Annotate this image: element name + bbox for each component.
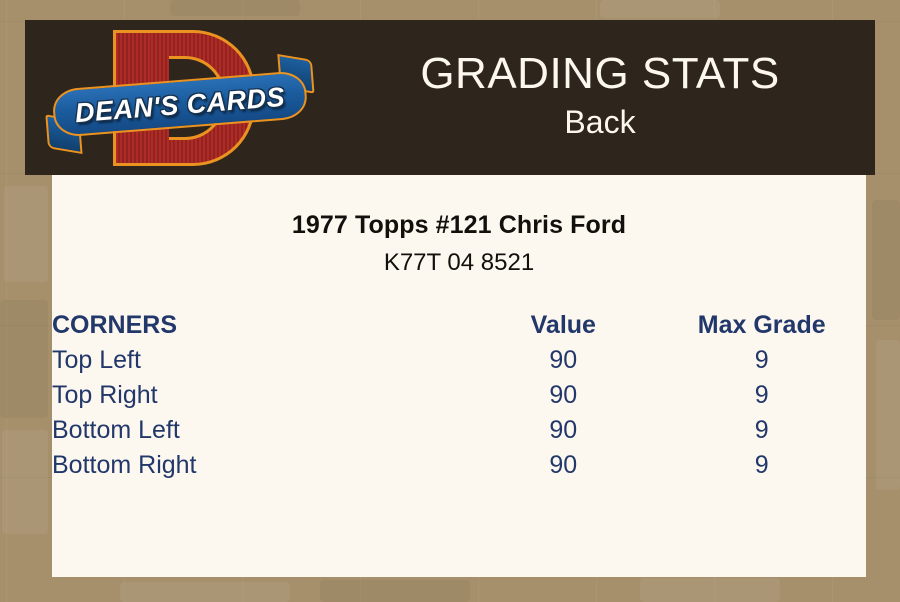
stats-table-body: Top Left 90 9 Top Right 90 9 Bottom Left… (52, 343, 866, 483)
row-value: 90 (469, 378, 657, 413)
column-header-section: CORNERS (52, 308, 469, 343)
row-max-grade: 9 (657, 448, 866, 483)
row-value: 90 (469, 413, 657, 448)
deans-cards-logo[interactable]: DEAN'S CARDS (45, 26, 315, 169)
table-row: Bottom Left 90 9 (52, 413, 866, 448)
background-card-ghost (170, 0, 300, 16)
row-label: Bottom Right (52, 448, 469, 483)
row-max-grade: 9 (657, 378, 866, 413)
background-card-ghost (872, 200, 900, 320)
background-card-ghost (120, 582, 290, 602)
stats-header-row: CORNERS Value Max Grade (52, 308, 866, 343)
row-value: 90 (469, 343, 657, 378)
background-card-ghost (640, 578, 780, 602)
logo-ribbon-banner: DEAN'S CARDS (43, 67, 316, 142)
column-header-value: Value (469, 308, 657, 343)
card-code: K77T 04 8521 (52, 249, 866, 277)
table-row: Top Left 90 9 (52, 343, 866, 378)
content-panel: 1977 Topps #121 Chris Ford K77T 04 8521 … (52, 175, 866, 577)
table-row: Top Right 90 9 (52, 378, 866, 413)
row-label: Top Left (52, 343, 469, 378)
stats-table-head: CORNERS Value Max Grade (52, 308, 866, 343)
row-label: Bottom Left (52, 413, 469, 448)
background-card-ghost (320, 580, 470, 602)
card-title: 1977 Topps #121 Chris Ford (52, 211, 866, 240)
background-card-ghost (0, 300, 48, 418)
row-max-grade: 9 (657, 413, 866, 448)
grading-stats-page: DEAN'S CARDS GRADING STATS Back 1977 Top… (0, 0, 900, 602)
logo-ribbon-text: DEAN'S CARDS (43, 67, 316, 142)
background-card-ghost (876, 340, 900, 490)
header-bar: DEAN'S CARDS GRADING STATS Back (25, 20, 875, 175)
row-max-grade: 9 (657, 343, 866, 378)
background-card-ghost (600, 0, 720, 18)
background-card-ghost (4, 186, 48, 282)
grading-stats-table: CORNERS Value Max Grade Top Left 90 9 To… (52, 308, 866, 483)
column-header-max-grade: Max Grade (657, 308, 866, 343)
header-title-group: GRADING STATS Back (325, 20, 875, 175)
page-title: GRADING STATS (420, 51, 779, 98)
row-value: 90 (469, 448, 657, 483)
table-row: Bottom Right 90 9 (52, 448, 866, 483)
row-label: Top Right (52, 378, 469, 413)
background-card-ghost (2, 430, 48, 534)
page-subtitle: Back (564, 102, 635, 144)
